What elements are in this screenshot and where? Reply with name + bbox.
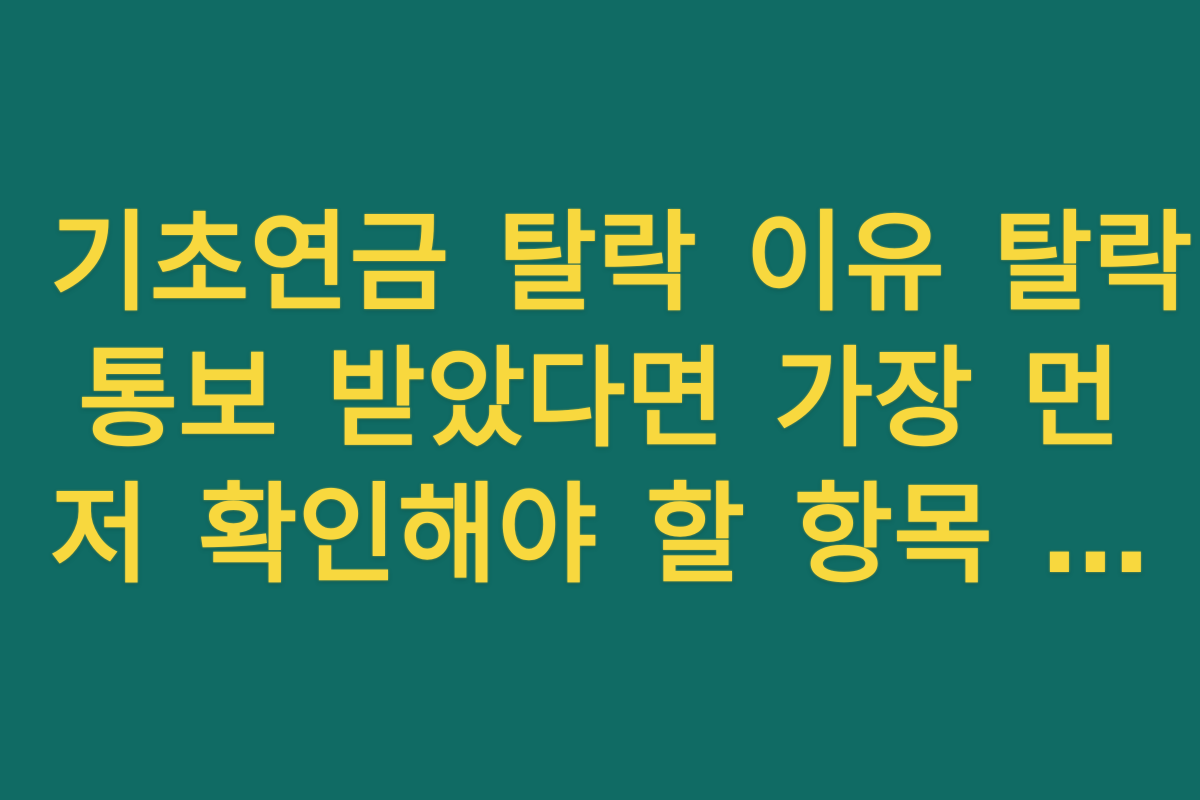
text-card: 기초연금 탈락 이유 탈락 통보 받았다면 가장 먼 저 확인해야 할 항목 …: [0, 0, 1200, 800]
headline-line-2: 통보 받았다면 가장 먼: [50, 332, 1150, 468]
headline-text: 기초연금 탈락 이유 탈락 통보 받았다면 가장 먼 저 확인해야 할 항목 …: [50, 196, 1150, 604]
headline-line-1: 기초연금 탈락 이유 탈락: [50, 196, 1150, 332]
headline-line-3: 저 확인해야 할 항목 …: [50, 468, 1150, 604]
